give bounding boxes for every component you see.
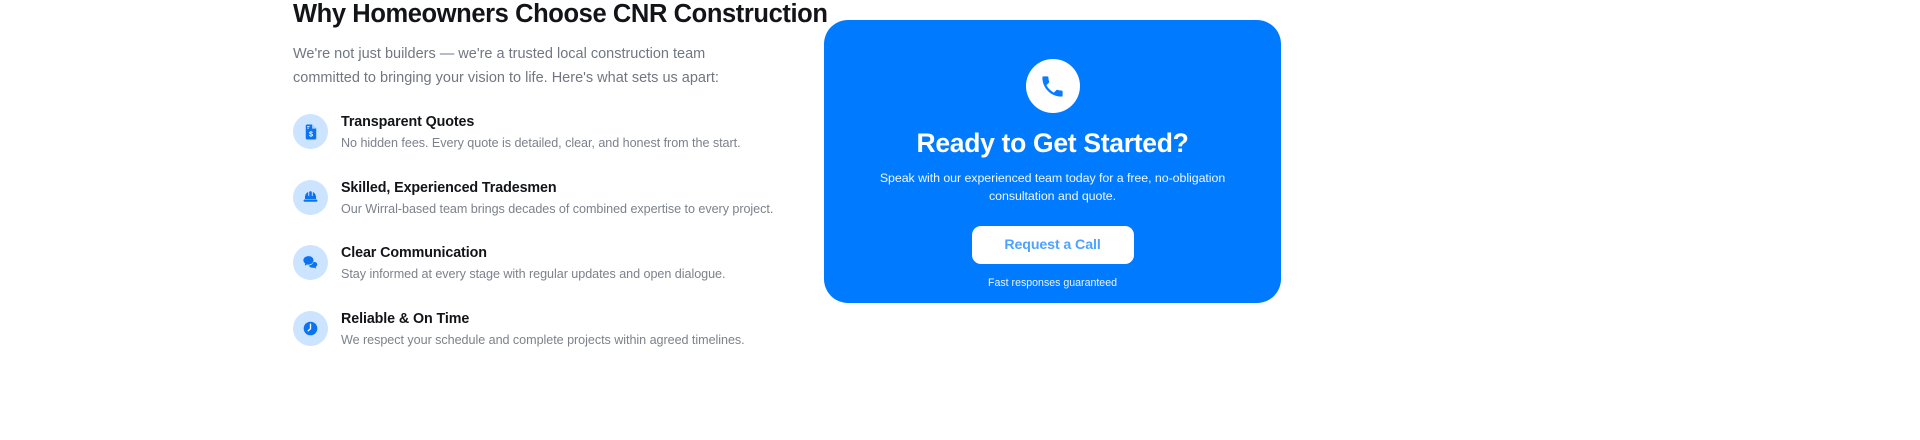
cta-title: Ready to Get Started? <box>824 127 1281 159</box>
chat-bubbles-icon <box>293 245 328 280</box>
phone-icon <box>1026 59 1080 113</box>
feature-list: $ Transparent Quotes No hidden fees. Eve… <box>293 113 813 349</box>
feature-title: Clear Communication <box>341 244 725 263</box>
page-title: Why Homeowners Choose CNR Construction <box>293 0 813 30</box>
document-dollar-icon: $ <box>293 114 328 149</box>
feature-description: Our Wirral-based team brings decades of … <box>341 201 773 218</box>
clock-icon <box>293 311 328 346</box>
list-item: Reliable & On Time We respect your sched… <box>293 310 813 349</box>
cta-card: Ready to Get Started? Speak with our exp… <box>824 20 1281 303</box>
hard-hat-icon <box>293 180 328 215</box>
feature-title: Reliable & On Time <box>341 310 745 329</box>
feature-title: Skilled, Experienced Tradesmen <box>341 179 773 198</box>
svg-text:$: $ <box>309 130 313 138</box>
feature-text-block: Skilled, Experienced Tradesmen Our Wirra… <box>341 179 773 218</box>
cta-subtitle: Speak with our experienced team today fo… <box>878 169 1228 205</box>
feature-description: No hidden fees. Every quote is detailed,… <box>341 135 741 152</box>
feature-description: We respect your schedule and complete pr… <box>341 332 745 349</box>
features-column: Why Homeowners Choose CNR Construction W… <box>293 0 813 349</box>
feature-description: Stay informed at every stage with regula… <box>341 266 725 283</box>
cta-note: Fast responses guaranteed <box>824 277 1281 289</box>
section-intro-paragraph: We're not just builders — we're a truste… <box>293 42 768 90</box>
list-item: $ Transparent Quotes No hidden fees. Eve… <box>293 113 813 152</box>
feature-title: Transparent Quotes <box>341 113 741 132</box>
page-root: Why Homeowners Choose CNR Construction W… <box>0 0 1920 440</box>
feature-text-block: Transparent Quotes No hidden fees. Every… <box>341 113 741 152</box>
feature-text-block: Clear Communication Stay informed at eve… <box>341 244 725 283</box>
list-item: Clear Communication Stay informed at eve… <box>293 244 813 283</box>
request-a-call-button[interactable]: Request a Call <box>972 226 1134 264</box>
list-item: Skilled, Experienced Tradesmen Our Wirra… <box>293 179 813 218</box>
feature-text-block: Reliable & On Time We respect your sched… <box>341 310 745 349</box>
